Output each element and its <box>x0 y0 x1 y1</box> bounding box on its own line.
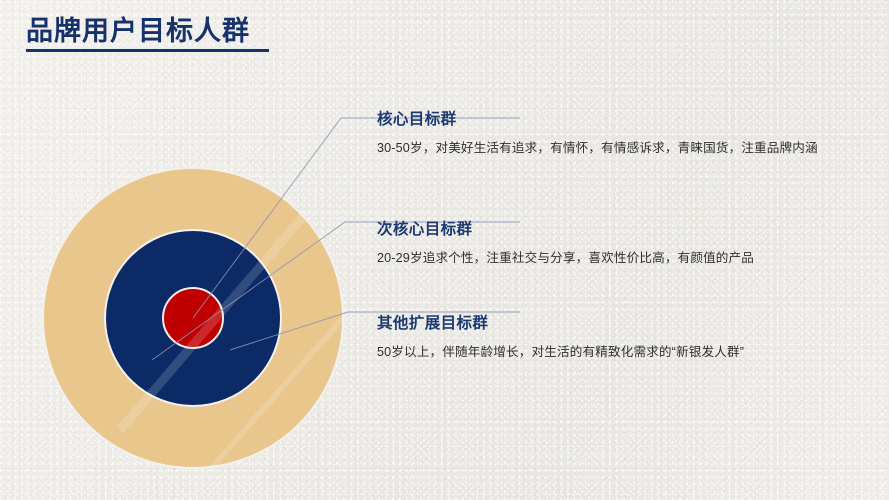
text-block-core: 核心目标群 30-50岁，对美好生活有追求，有情怀，有情感诉求，青睐国货，注重品… <box>377 110 877 161</box>
subcore-body: 20-29岁追求个性，注重社交与分享，喜欢性价比高，有颜值的产品 <box>377 246 847 271</box>
subcore-heading: 次核心目标群 <box>377 220 877 240</box>
core-heading: 核心目标群 <box>377 110 877 130</box>
core-body: 30-50岁，对美好生活有追求，有情怀，有情感诉求，青睐国货，注重品牌内涵 <box>377 136 847 161</box>
extended-heading: 其他扩展目标群 <box>377 314 877 334</box>
text-block-extended: 其他扩展目标群 50岁以上，伴随年龄增长，对生活的有精致化需求的“新银发人群” <box>377 314 877 365</box>
extended-body: 50岁以上，伴随年龄增长，对生活的有精致化需求的“新银发人群” <box>377 340 847 365</box>
slide-canvas: 品牌用户目标人群 核心目标群 30-50岁，对美好生活有追求，有 <box>0 0 889 500</box>
text-block-subcore: 次核心目标群 20-29岁追求个性，注重社交与分享，喜欢性价比高，有颜值的产品 <box>377 220 877 271</box>
